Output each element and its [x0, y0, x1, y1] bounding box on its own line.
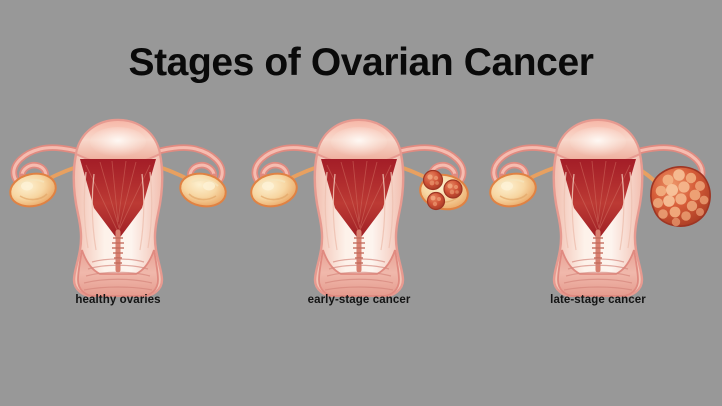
- fundus-highlight: [331, 127, 387, 157]
- uterus-diagram-early-stage: [241, 112, 477, 297]
- panel-healthy-ovaries: healthy ovaries: [0, 112, 236, 312]
- illustration-canvas: Stages of Ovarian Cancer: [0, 0, 722, 406]
- tumor-nodule-1: [424, 171, 443, 190]
- uterus-diagram-late-stage: [480, 112, 716, 297]
- ovary-right-tumor-mass: [651, 167, 710, 226]
- tumor-nodule-2: [444, 180, 462, 198]
- caption-early-stage-cancer: early-stage cancer: [241, 294, 477, 306]
- uterus: [554, 120, 642, 296]
- uterus-diagram-healthy: [0, 112, 236, 297]
- uterus: [74, 120, 162, 296]
- fundus-highlight: [570, 127, 626, 157]
- panel-late-stage-cancer: late-stage cancer: [480, 112, 716, 312]
- caption-healthy-ovaries: healthy ovaries: [0, 294, 236, 306]
- page-title: Stages of Ovarian Cancer: [0, 40, 722, 86]
- panel-early-stage-cancer: early-stage cancer: [241, 112, 477, 312]
- tumor-nodule-3: [428, 193, 445, 210]
- caption-late-stage-cancer: late-stage cancer: [480, 294, 716, 306]
- uterus: [315, 120, 403, 296]
- fundus-highlight: [90, 127, 146, 157]
